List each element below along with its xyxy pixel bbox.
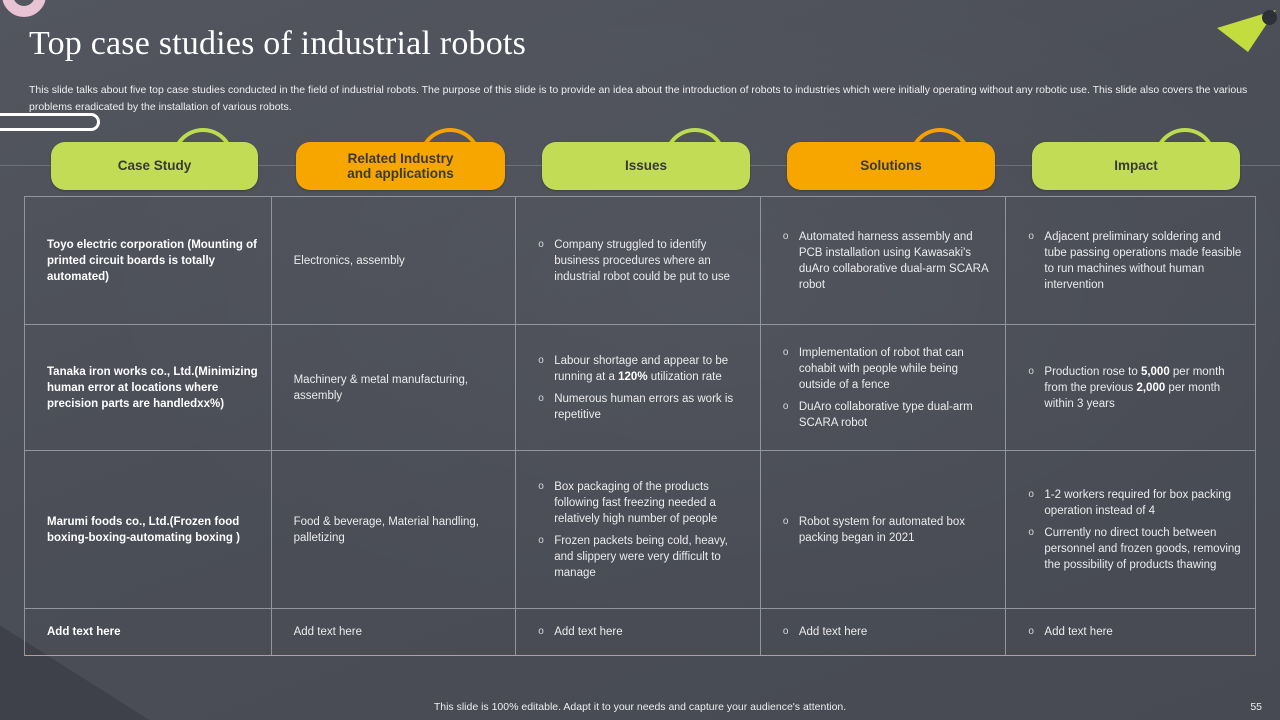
case-studies-table: Toyo electric corporation (Mounting of p… <box>24 196 1256 656</box>
industry-text: Food & beverage, Material handling, pall… <box>294 514 504 546</box>
tab-related-industry[interactable]: Related Industryand applications <box>296 128 505 190</box>
table-row: Marumi foods co., Ltd.(Frozen food boxin… <box>25 451 1255 609</box>
impact-list: 1-2 workers required for box packing ope… <box>1028 487 1243 573</box>
cell-issues[interactable]: Labour shortage and appear to be running… <box>516 325 761 450</box>
impact-list: Add text here <box>1028 624 1243 640</box>
cell-case-study[interactable]: Add text here <box>25 609 272 655</box>
tab-label: Case Study <box>118 158 192 174</box>
tab-pill[interactable]: Impact <box>1032 142 1240 190</box>
impact-list: Adjacent preliminary soldering and tube … <box>1028 229 1243 293</box>
cell-impact[interactable]: Adjacent preliminary soldering and tube … <box>1006 197 1255 324</box>
list-item: Numerous human errors as work is repetit… <box>538 391 748 423</box>
tab-pill[interactable]: Case Study <box>51 142 258 190</box>
case-study-text: Toyo electric corporation (Mounting of p… <box>47 237 259 285</box>
issues-list: Add text here <box>538 624 748 640</box>
list-item: Frozen packets being cold, heavy, and sl… <box>538 533 748 581</box>
industry-text: Electronics, assembly <box>294 253 504 269</box>
footer-note: This slide is 100% editable. Adapt it to… <box>0 701 1280 713</box>
impact-list: Production rose to 5,000 per month from … <box>1028 364 1243 412</box>
cell-issues[interactable]: Add text here <box>516 609 761 655</box>
list-item: DuAro collaborative type dual-arm SCARA … <box>783 399 994 431</box>
cell-case-study[interactable]: Toyo electric corporation (Mounting of p… <box>25 197 272 324</box>
industry-text: Machinery & metal manufacturing, assembl… <box>294 372 504 404</box>
cell-industry[interactable]: Add text here <box>272 609 517 655</box>
cell-impact[interactable]: 1-2 workers required for box packing ope… <box>1006 451 1255 608</box>
case-study-text: Add text here <box>47 624 259 640</box>
list-item: Production rose to 5,000 per month from … <box>1028 364 1243 412</box>
column-tabs: Case Study Related Industryand applicati… <box>0 128 1280 190</box>
tab-issues[interactable]: Issues <box>542 128 750 190</box>
issues-list: Labour shortage and appear to be running… <box>538 353 748 423</box>
tab-impact[interactable]: Impact <box>1032 128 1240 190</box>
solutions-list: Implementation of robot that can cohabit… <box>783 345 994 431</box>
cell-industry[interactable]: Electronics, assembly <box>272 197 517 324</box>
cell-case-study[interactable]: Marumi foods co., Ltd.(Frozen food boxin… <box>25 451 272 608</box>
cell-industry[interactable]: Food & beverage, Material handling, pall… <box>272 451 517 608</box>
cell-case-study[interactable]: Tanaka iron works co., Ltd.(Minimizing h… <box>25 325 272 450</box>
tab-case-study[interactable]: Case Study <box>51 128 258 190</box>
tab-solutions[interactable]: Solutions <box>787 128 995 190</box>
list-item: Robot system for automated box packing b… <box>783 514 994 546</box>
solutions-list: Add text here <box>783 624 994 640</box>
cell-industry[interactable]: Machinery & metal manufacturing, assembl… <box>272 325 517 450</box>
cell-impact[interactable]: Production rose to 5,000 per month from … <box>1006 325 1255 450</box>
cell-issues[interactable]: Box packaging of the products following … <box>516 451 761 608</box>
cell-solutions[interactable]: Robot system for automated box packing b… <box>761 451 1007 608</box>
tab-pill[interactable]: Solutions <box>787 142 995 190</box>
tab-label: Solutions <box>860 158 922 174</box>
list-item: Automated harness assembly and PCB insta… <box>783 229 994 293</box>
tab-pill[interactable]: Issues <box>542 142 750 190</box>
cell-solutions[interactable]: Add text here <box>761 609 1007 655</box>
tab-pill[interactable]: Related Industryand applications <box>296 142 505 190</box>
cell-issues[interactable]: Company struggled to identify business p… <box>516 197 761 324</box>
list-item: Labour shortage and appear to be running… <box>538 353 748 385</box>
cell-impact[interactable]: Add text here <box>1006 609 1255 655</box>
list-item: 1-2 workers required for box packing ope… <box>1028 487 1243 519</box>
cell-solutions[interactable]: Automated harness assembly and PCB insta… <box>761 197 1007 324</box>
list-item: Add text here <box>538 624 748 640</box>
list-item: Company struggled to identify business p… <box>538 237 748 285</box>
solutions-list: Robot system for automated box packing b… <box>783 514 994 546</box>
page-title: Top case studies of industrial robots <box>29 25 526 63</box>
list-item: Currently no direct touch between person… <box>1028 525 1243 573</box>
tab-label: Related Industryand applications <box>347 151 454 182</box>
list-item: Box packaging of the products following … <box>538 479 748 527</box>
table-row: Tanaka iron works co., Ltd.(Minimizing h… <box>25 325 1255 451</box>
slide-description: This slide talks about five top case stu… <box>29 82 1251 115</box>
list-item: Adjacent preliminary soldering and tube … <box>1028 229 1243 293</box>
page-number: 55 <box>1250 701 1262 713</box>
case-study-text: Tanaka iron works co., Ltd.(Minimizing h… <box>47 364 259 412</box>
table-row: Add text here Add text here Add text her… <box>25 609 1255 655</box>
industry-text: Add text here <box>294 624 504 640</box>
list-item: Add text here <box>783 624 994 640</box>
tab-label: Impact <box>1114 158 1158 174</box>
case-study-text: Marumi foods co., Ltd.(Frozen food boxin… <box>47 514 259 546</box>
list-item: Add text here <box>1028 624 1243 640</box>
dark-dot-decoration-icon <box>1262 10 1277 25</box>
tab-label: Issues <box>625 158 667 174</box>
list-item: Implementation of robot that can cohabit… <box>783 345 994 393</box>
table-row: Toyo electric corporation (Mounting of p… <box>25 197 1255 325</box>
cell-solutions[interactable]: Implementation of robot that can cohabit… <box>761 325 1007 450</box>
issues-list: Company struggled to identify business p… <box>538 237 748 285</box>
issues-list: Box packaging of the products following … <box>538 479 748 581</box>
solutions-list: Automated harness assembly and PCB insta… <box>783 229 994 293</box>
